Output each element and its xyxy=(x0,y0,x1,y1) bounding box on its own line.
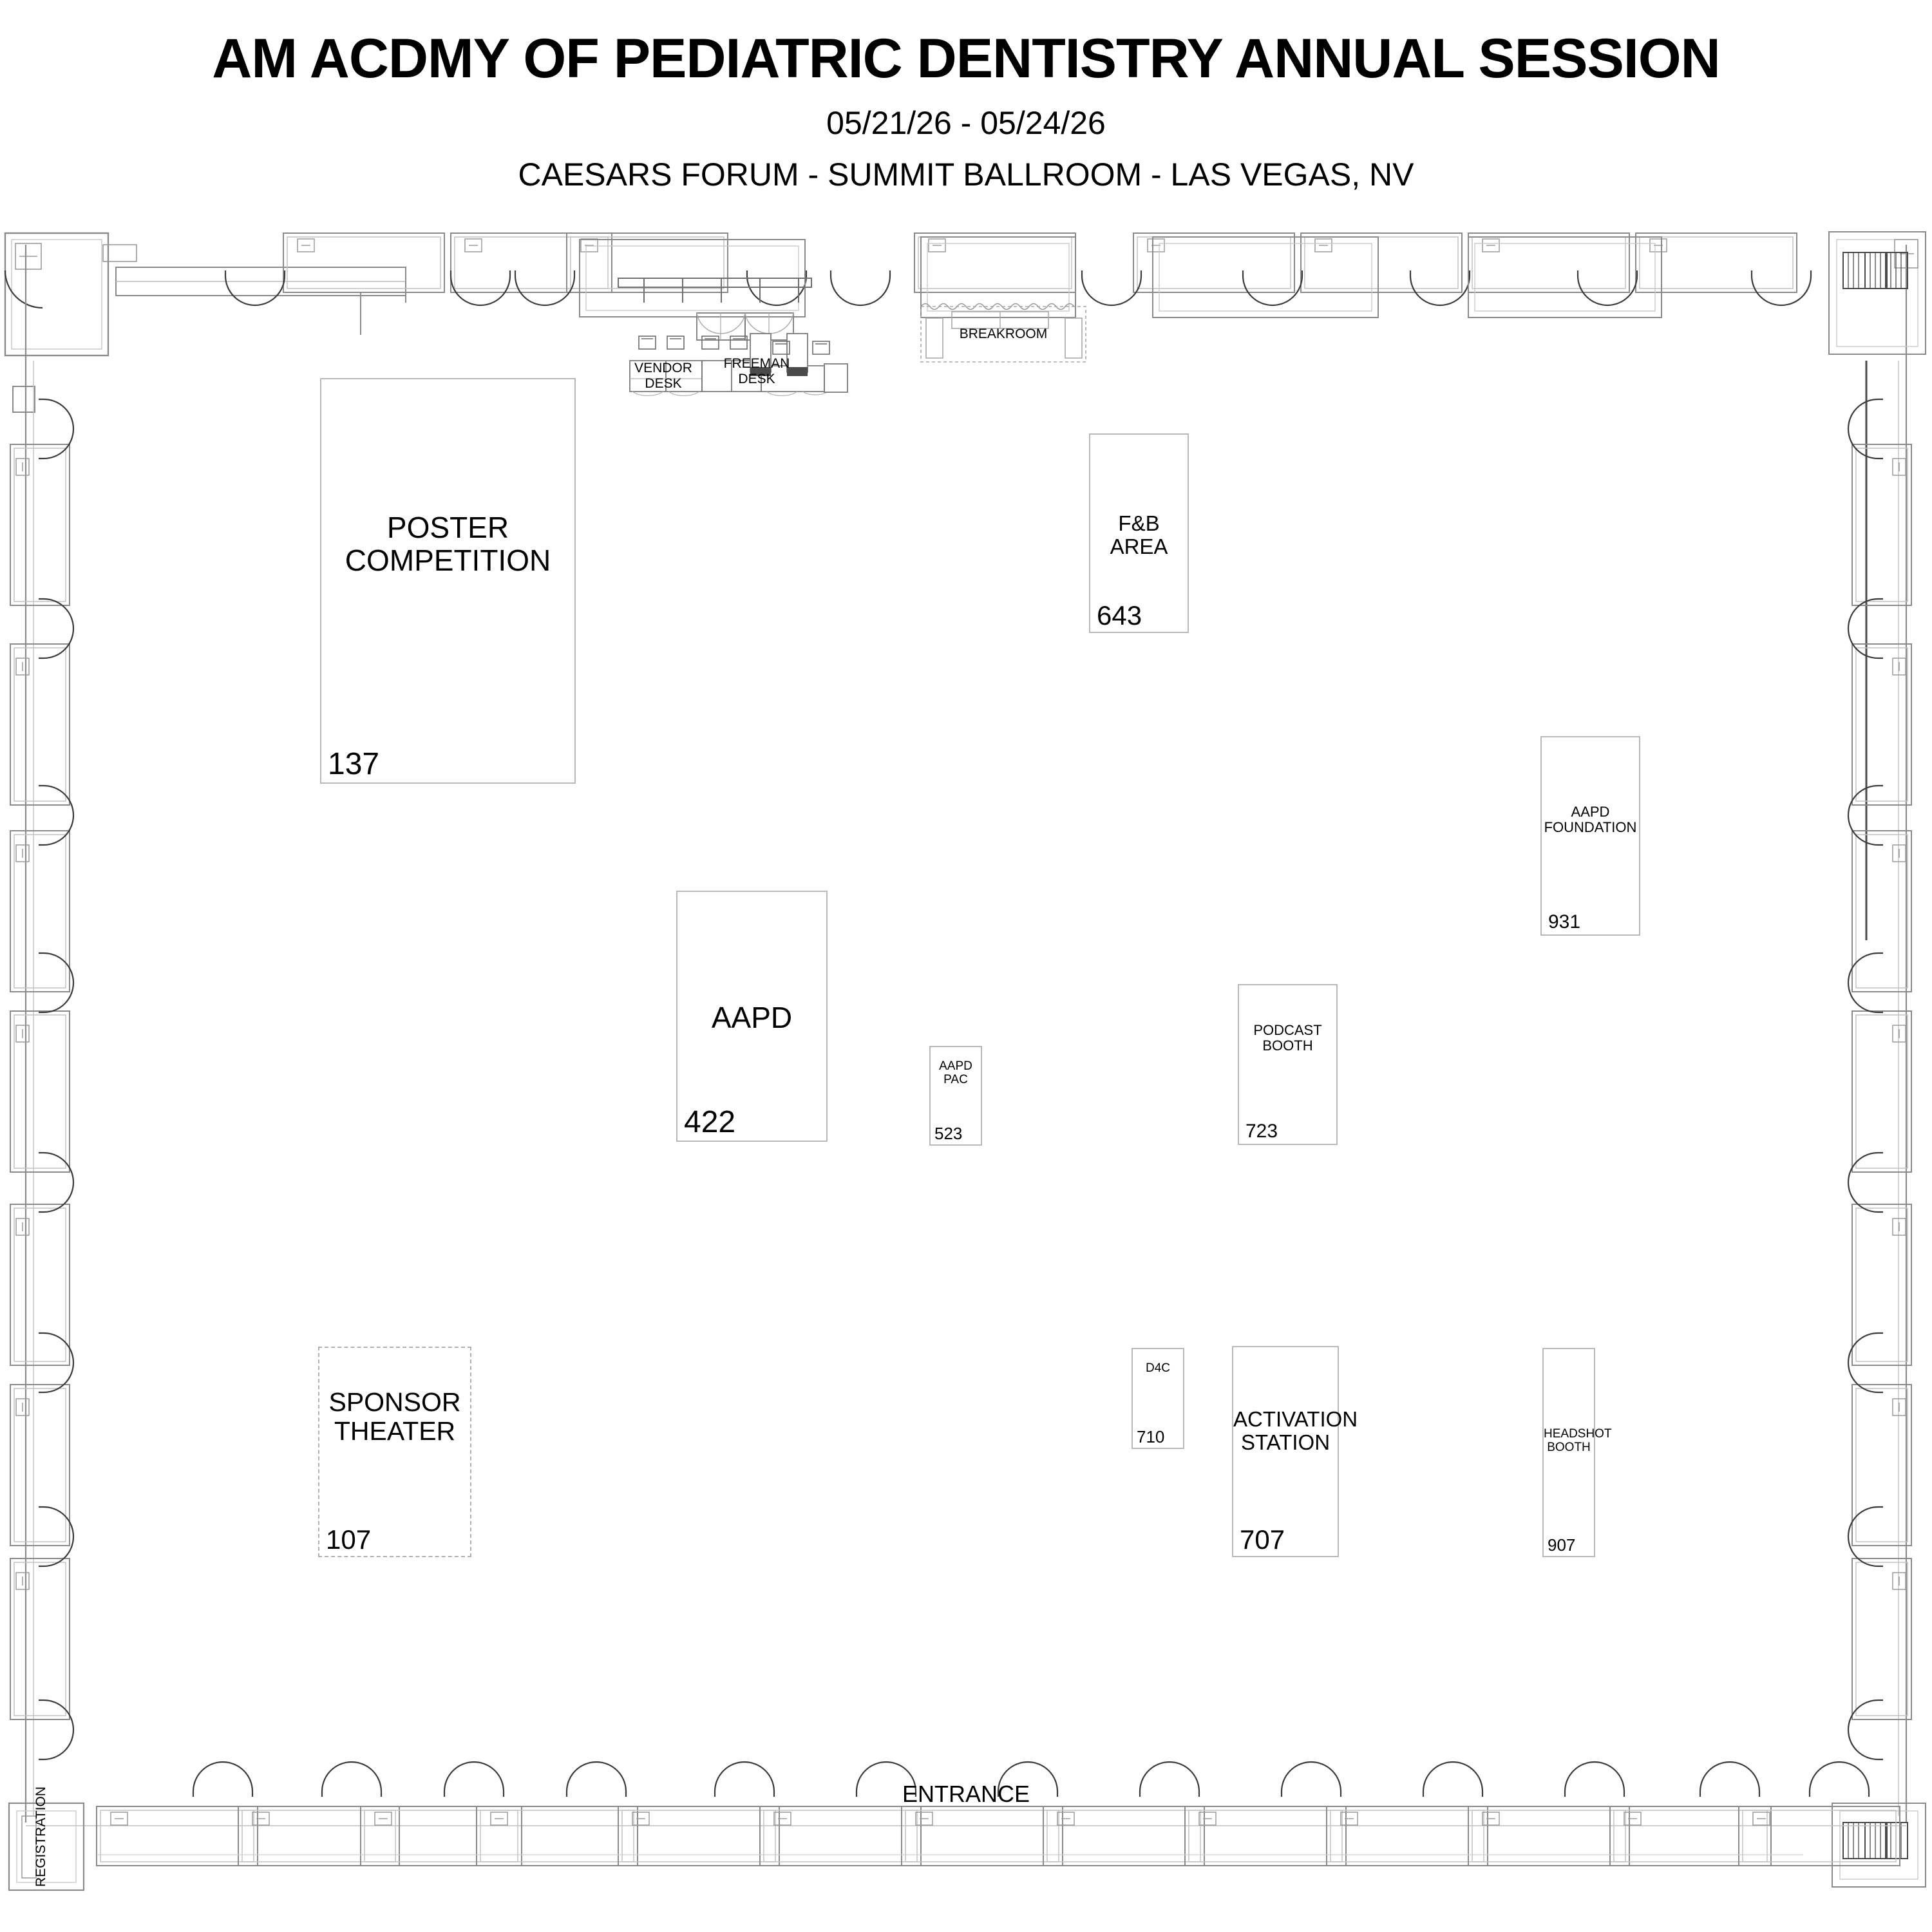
booth-label: AAPD FOUNDATION xyxy=(1542,804,1639,835)
architectural-linework xyxy=(0,0,1932,1932)
booth-number: 907 xyxy=(1548,1537,1575,1553)
booth-aapd-foundation[interactable]: AAPD FOUNDATION 931 xyxy=(1540,736,1640,936)
booth-label: AAPD PAC xyxy=(931,1060,981,1087)
booth-fb-area[interactable]: F&B AREA 643 xyxy=(1089,433,1189,633)
breakroom-label: BREAKROOM xyxy=(921,327,1086,342)
booth-number: 707 xyxy=(1240,1526,1285,1553)
booth-label: D4C xyxy=(1133,1362,1183,1376)
booth-number: 643 xyxy=(1097,602,1142,629)
booth-poster-competition[interactable]: POSTER COMPETITION 137 xyxy=(320,378,576,784)
booth-label: ACTIVATION STATION xyxy=(1233,1408,1338,1455)
freeman-desk-label: FREEMAN DESK xyxy=(705,356,808,387)
vendor-desk-label: VENDOR DESK xyxy=(612,361,715,392)
booth-number: 107 xyxy=(326,1526,371,1553)
booth-label: PODCAST BOOTH xyxy=(1239,1023,1336,1054)
entrance-label: ENTRANCE xyxy=(837,1781,1095,1807)
booth-label: F&B AREA xyxy=(1090,512,1188,559)
booth-podcast-booth[interactable]: PODCAST BOOTH 723 xyxy=(1238,984,1338,1145)
booth-label: AAPD xyxy=(677,1001,826,1034)
booth-number: 710 xyxy=(1137,1428,1164,1445)
booth-number: 422 xyxy=(684,1107,735,1138)
booth-headshot-booth[interactable]: HEADSHOT BOOTH 907 xyxy=(1542,1348,1595,1557)
event-dates: 05/21/26 - 05/24/26 xyxy=(0,107,1932,139)
booth-label: SPONSOR THEATER xyxy=(319,1388,470,1446)
booth-activation-station[interactable]: ACTIVATION STATION 707 xyxy=(1232,1346,1339,1557)
booth-number: 523 xyxy=(934,1125,962,1142)
floorplan-canvas: AM ACDMY OF PEDIATRIC DENTISTRY ANNUAL S… xyxy=(0,0,1932,1932)
booth-number: 137 xyxy=(328,749,379,780)
plan-header: AM ACDMY OF PEDIATRIC DENTISTRY ANNUAL S… xyxy=(0,0,1932,191)
page-title: AM ACDMY OF PEDIATRIC DENTISTRY ANNUAL S… xyxy=(0,31,1932,86)
booth-label: HEADSHOT BOOTH xyxy=(1544,1428,1594,1455)
booth-aapd-pac[interactable]: AAPD PAC 523 xyxy=(929,1046,982,1146)
booth-number: 931 xyxy=(1548,913,1580,932)
booth-sponsor-theater[interactable]: SPONSOR THEATER 107 xyxy=(318,1347,471,1557)
event-venue: CAESARS FORUM - SUMMIT BALLROOM - LAS VE… xyxy=(0,158,1932,191)
booth-aapd[interactable]: AAPD 422 xyxy=(676,891,828,1142)
booth-label: POSTER COMPETITION xyxy=(321,511,574,576)
booth-number: 723 xyxy=(1245,1122,1278,1141)
registration-label: REGISTRATION xyxy=(33,1786,49,1887)
booth-d4c[interactable]: D4C 710 xyxy=(1132,1348,1184,1449)
